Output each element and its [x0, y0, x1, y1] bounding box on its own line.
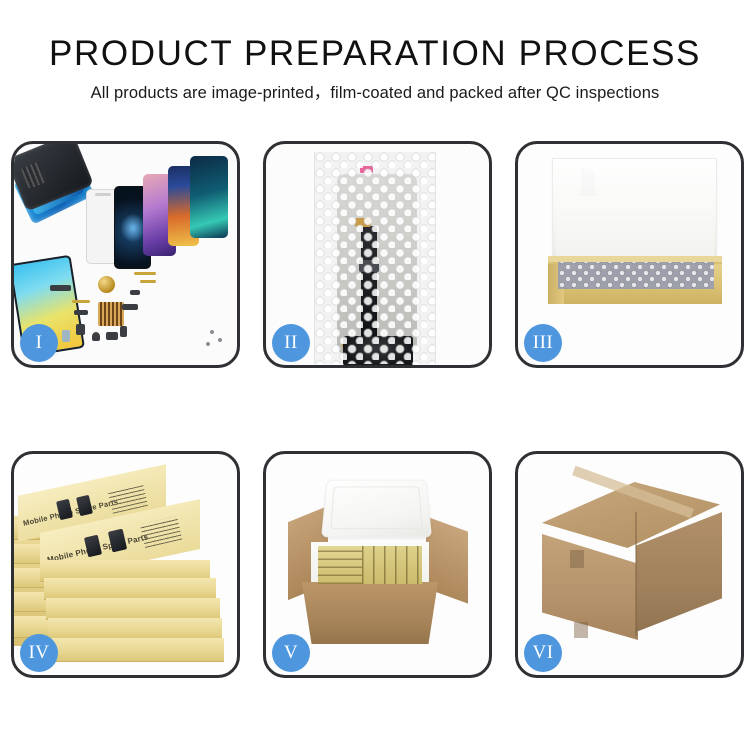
step-badge-5: V	[272, 634, 310, 672]
bubble-wrap-bag	[314, 152, 436, 364]
step-card-4[interactable]: Mobile Phone Spare Parts Mobile Phone Sp…	[11, 451, 240, 678]
page-title: PRODUCT PREPARATION PROCESS	[0, 34, 750, 74]
chip-grid-part	[98, 302, 124, 326]
page-header: PRODUCT PREPARATION PROCESS All products…	[0, 0, 750, 103]
foam-insert	[556, 196, 714, 264]
screw	[218, 338, 222, 342]
yellow-boxes-stack	[318, 546, 362, 584]
box-edge	[50, 638, 224, 662]
spare-part	[74, 310, 88, 315]
spare-part	[130, 290, 140, 295]
carton-edge	[635, 512, 637, 636]
carton-body	[302, 582, 438, 644]
flex-cable	[134, 272, 156, 275]
step-card-3[interactable]: III	[515, 141, 744, 368]
spare-part	[50, 285, 71, 291]
step-badge-4: IV	[20, 634, 58, 672]
step-card-6[interactable]: VI	[515, 451, 744, 678]
box-edge	[46, 598, 220, 620]
flex-cable	[72, 300, 90, 303]
gold-speaker-part	[98, 276, 115, 293]
spare-part	[76, 324, 85, 335]
spare-part	[120, 326, 127, 337]
screw	[210, 330, 214, 334]
spare-part	[122, 304, 138, 310]
bubble-texture	[315, 152, 435, 364]
spare-part	[92, 332, 100, 341]
step-card-5[interactable]: V	[263, 451, 492, 678]
foam-lid	[321, 480, 432, 538]
spare-part	[106, 332, 118, 340]
step-card-1[interactable]: I	[11, 141, 240, 368]
step-badge-2: II	[272, 324, 310, 362]
box-edge	[48, 618, 222, 640]
process-steps-grid: I II III	[11, 141, 745, 678]
step-badge-1: I	[20, 324, 58, 362]
step-badge-6: VI	[524, 634, 562, 672]
carton-seam	[574, 622, 588, 638]
page-subtitle: All products are image-printed，film-coat…	[0, 83, 750, 103]
spare-part	[62, 330, 70, 342]
carton-front-face	[542, 534, 638, 640]
carton-seam	[570, 550, 584, 568]
teal-display-panel	[190, 156, 228, 238]
step-card-2[interactable]: II	[263, 141, 492, 368]
box-edge	[44, 578, 216, 600]
box-rim	[548, 256, 722, 262]
step-badge-3: III	[524, 324, 562, 362]
flex-cable	[140, 280, 156, 283]
screw	[206, 342, 210, 346]
